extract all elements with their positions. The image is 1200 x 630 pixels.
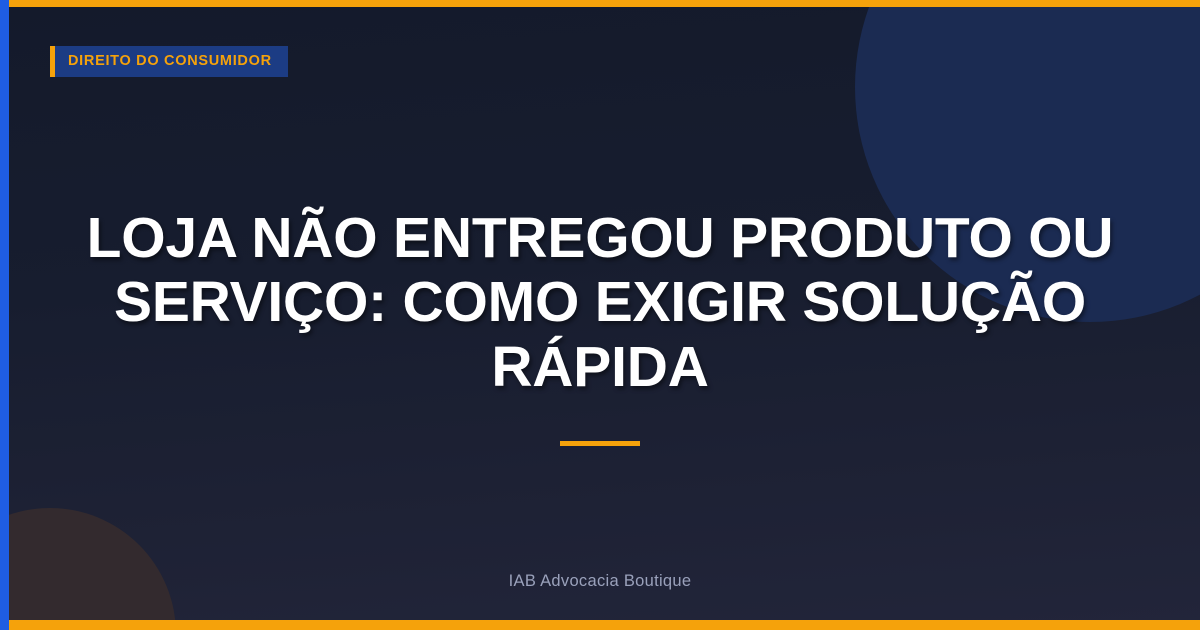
left-accent-bar	[0, 0, 9, 630]
social-share-card: DIREITO DO CONSUMIDOR LOJA NÃO ENTREGOU …	[0, 0, 1200, 630]
footer-brand: IAB Advocacia Boutique	[0, 572, 1200, 591]
page-title: LOJA NÃO ENTREGOU PRODUTO OU SERVIÇO: CO…	[60, 206, 1140, 399]
category-badge: DIREITO DO CONSUMIDOR	[50, 46, 288, 77]
top-accent-bar	[0, 0, 1200, 7]
bottom-accent-bar	[0, 620, 1200, 630]
title-divider	[560, 441, 640, 446]
card-content: DIREITO DO CONSUMIDOR LOJA NÃO ENTREGOU …	[0, 0, 1200, 630]
category-badge-label: DIREITO DO CONSUMIDOR	[68, 54, 272, 69]
